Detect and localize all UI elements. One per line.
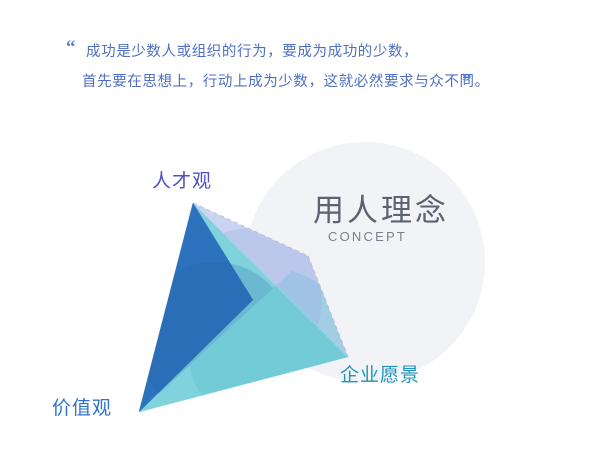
concept-diagram [0,0,608,449]
vertex-label-values: 价值观 [52,393,112,420]
vertex-label-talent: 人才观 [152,166,212,193]
concept-title: 用人理念 [313,185,449,230]
vertex-label-vision: 企业愿景 [340,360,420,387]
slide-canvas: “ 成功是少数人或组织的行为，要成为成功的少数， 首先要在思想上，行动上成为少数… [0,0,608,449]
concept-subtitle: CONCEPT [328,229,407,244]
